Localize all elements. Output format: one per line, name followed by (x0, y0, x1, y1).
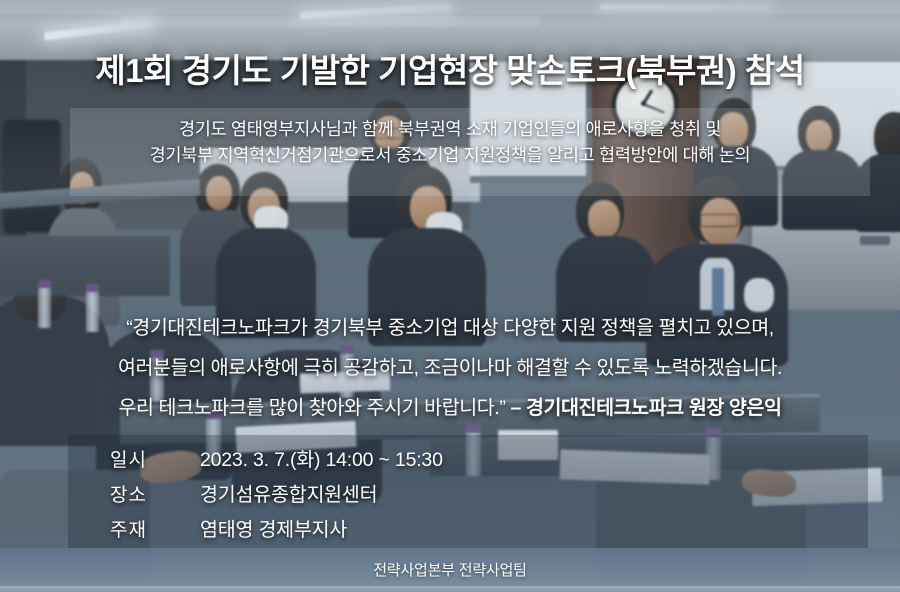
quote-line-1: “경기대진테크노파크가 경기북부 중소기업 대상 다양한 지원 정책을 펼치고 … (0, 308, 900, 348)
detail-label-venue: 장소 (110, 480, 200, 507)
page-title: 제1회 경기도 기발한 기업현장 맞손토크(북부권) 참석 (0, 44, 900, 92)
detail-row-date: 일시 2023. 3. 7.(화) 14:00 ~ 15:30 (110, 443, 443, 478)
quote-block: “경기대진테크노파크가 경기북부 중소기업 대상 다양한 지원 정책을 펼치고 … (0, 308, 900, 428)
subtitle-block: 경기도 염태영부지사님과 함께 북부권역 소재 기업인들의 애로사항을 청취 및… (0, 116, 900, 168)
detail-value-host: 염태영 경제부지사 (200, 513, 347, 542)
detail-row-host: 주재 염태영 경제부지사 (110, 513, 443, 548)
quote-line-2: 여러분들의 애로사항에 극히 공감하고, 조금이나마 해결할 수 있도록 노력하… (0, 348, 900, 388)
footer-department: 전략사업본부 전략사업팀 (0, 559, 900, 580)
footer-gloss (0, 586, 900, 592)
subtitle-line-2: 경기북부 지역혁신거점기관으로서 중소기업 지원정책을 알리고 협력방안에 대해… (0, 142, 900, 168)
quote-line-3: 우리 테크노파크를 많이 찾아와 주시기 바랍니다.” (118, 397, 505, 419)
detail-label-host: 주재 (110, 515, 200, 542)
subtitle-line-1: 경기도 염태영부지사님과 함께 북부권역 소재 기업인들의 애로사항을 청취 및 (0, 116, 900, 142)
detail-value-date: 2023. 3. 7.(화) 14:00 ~ 15:30 (200, 443, 443, 472)
details-list: 일시 2023. 3. 7.(화) 14:00 ~ 15:30 장소 경기섬유종… (110, 443, 443, 548)
quote-line-3-row: 우리 테크노파크를 많이 찾아와 주시기 바랍니다.” – 경기대진테크노파크 … (0, 388, 900, 428)
quote-attribution: – 경기대진테크노파크 원장 양은익 (510, 397, 781, 419)
detail-row-venue: 장소 경기섬유종합지원센터 (110, 478, 443, 513)
event-poster: 제1회 경기도 기발한 기업현장 맞손토크(북부권) 참석 경기도 염태영부지사… (0, 0, 900, 592)
detail-label-date: 일시 (110, 445, 200, 472)
detail-value-venue: 경기섬유종합지원센터 (200, 478, 377, 507)
